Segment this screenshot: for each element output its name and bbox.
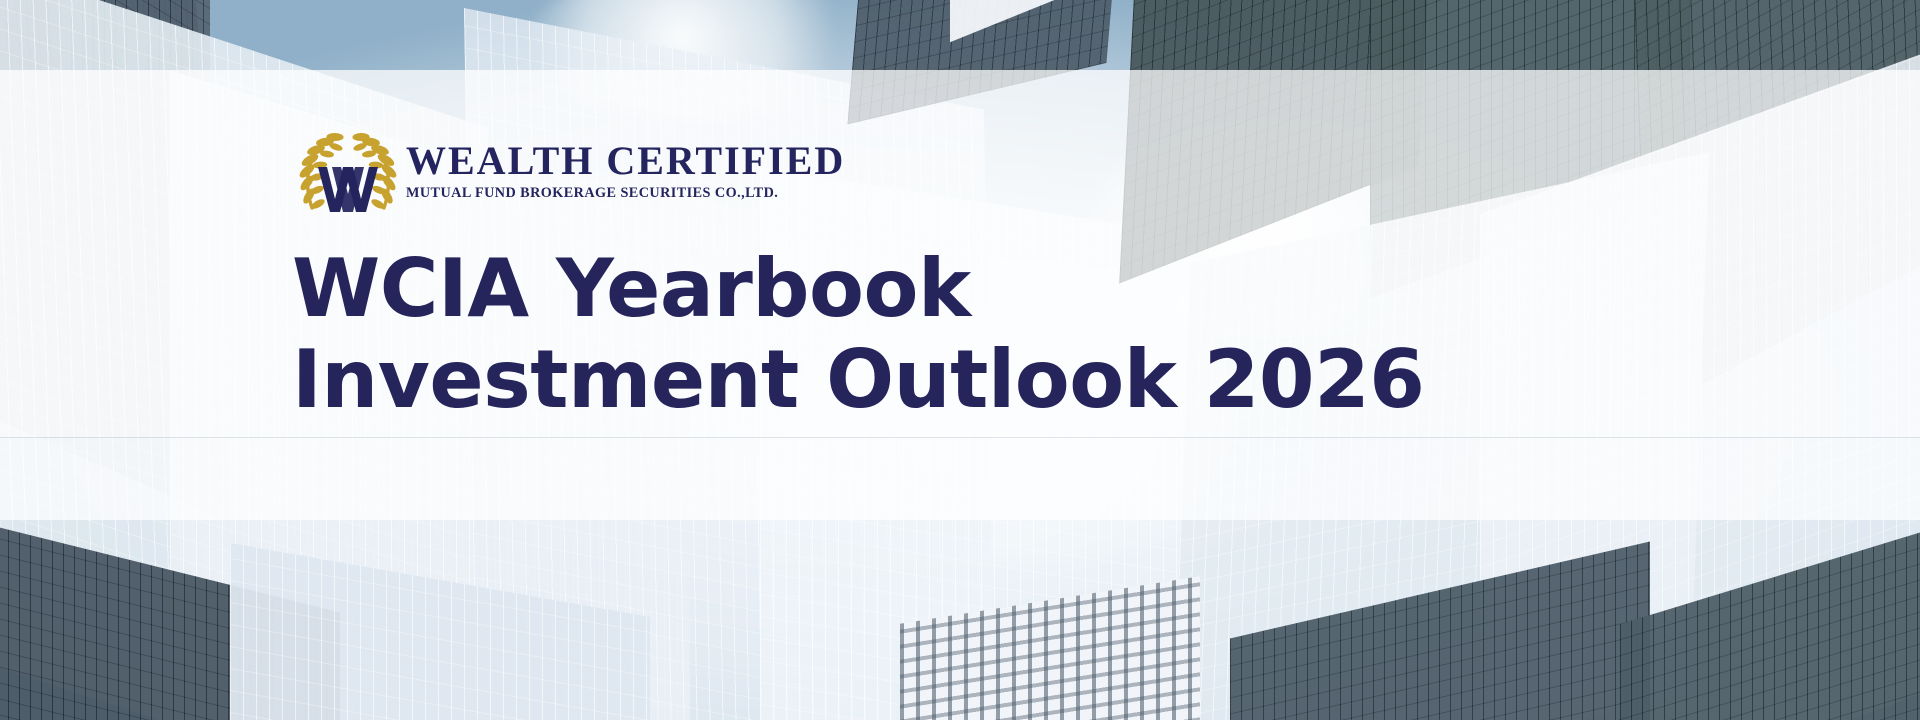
page-title: WCIA Yearbook Investment Outlook 2026 xyxy=(292,243,1424,425)
brand-lockup: WEALTH CERTIFIED MUTUAL FUND BROKERAGE S… xyxy=(296,122,845,214)
banner-content: WEALTH CERTIFIED MUTUAL FUND BROKERAGE S… xyxy=(0,0,1920,720)
brand-wordmark-subtitle: MUTUAL FUND BROKERAGE SECURITIES CO.,LTD… xyxy=(406,186,845,202)
brand-text: WEALTH CERTIFIED MUTUAL FUND BROKERAGE S… xyxy=(406,135,845,201)
w-monogram-icon xyxy=(318,167,378,212)
page-title-line-2: Investment Outlook 2026 xyxy=(292,334,1424,425)
laurel-wreath-w-monogram-logo xyxy=(296,122,400,214)
page-title-line-1: WCIA Yearbook xyxy=(292,243,1424,334)
title-banner: WEALTH CERTIFIED MUTUAL FUND BROKERAGE S… xyxy=(0,0,1920,720)
brand-wordmark: WEALTH CERTIFIED xyxy=(406,141,845,182)
